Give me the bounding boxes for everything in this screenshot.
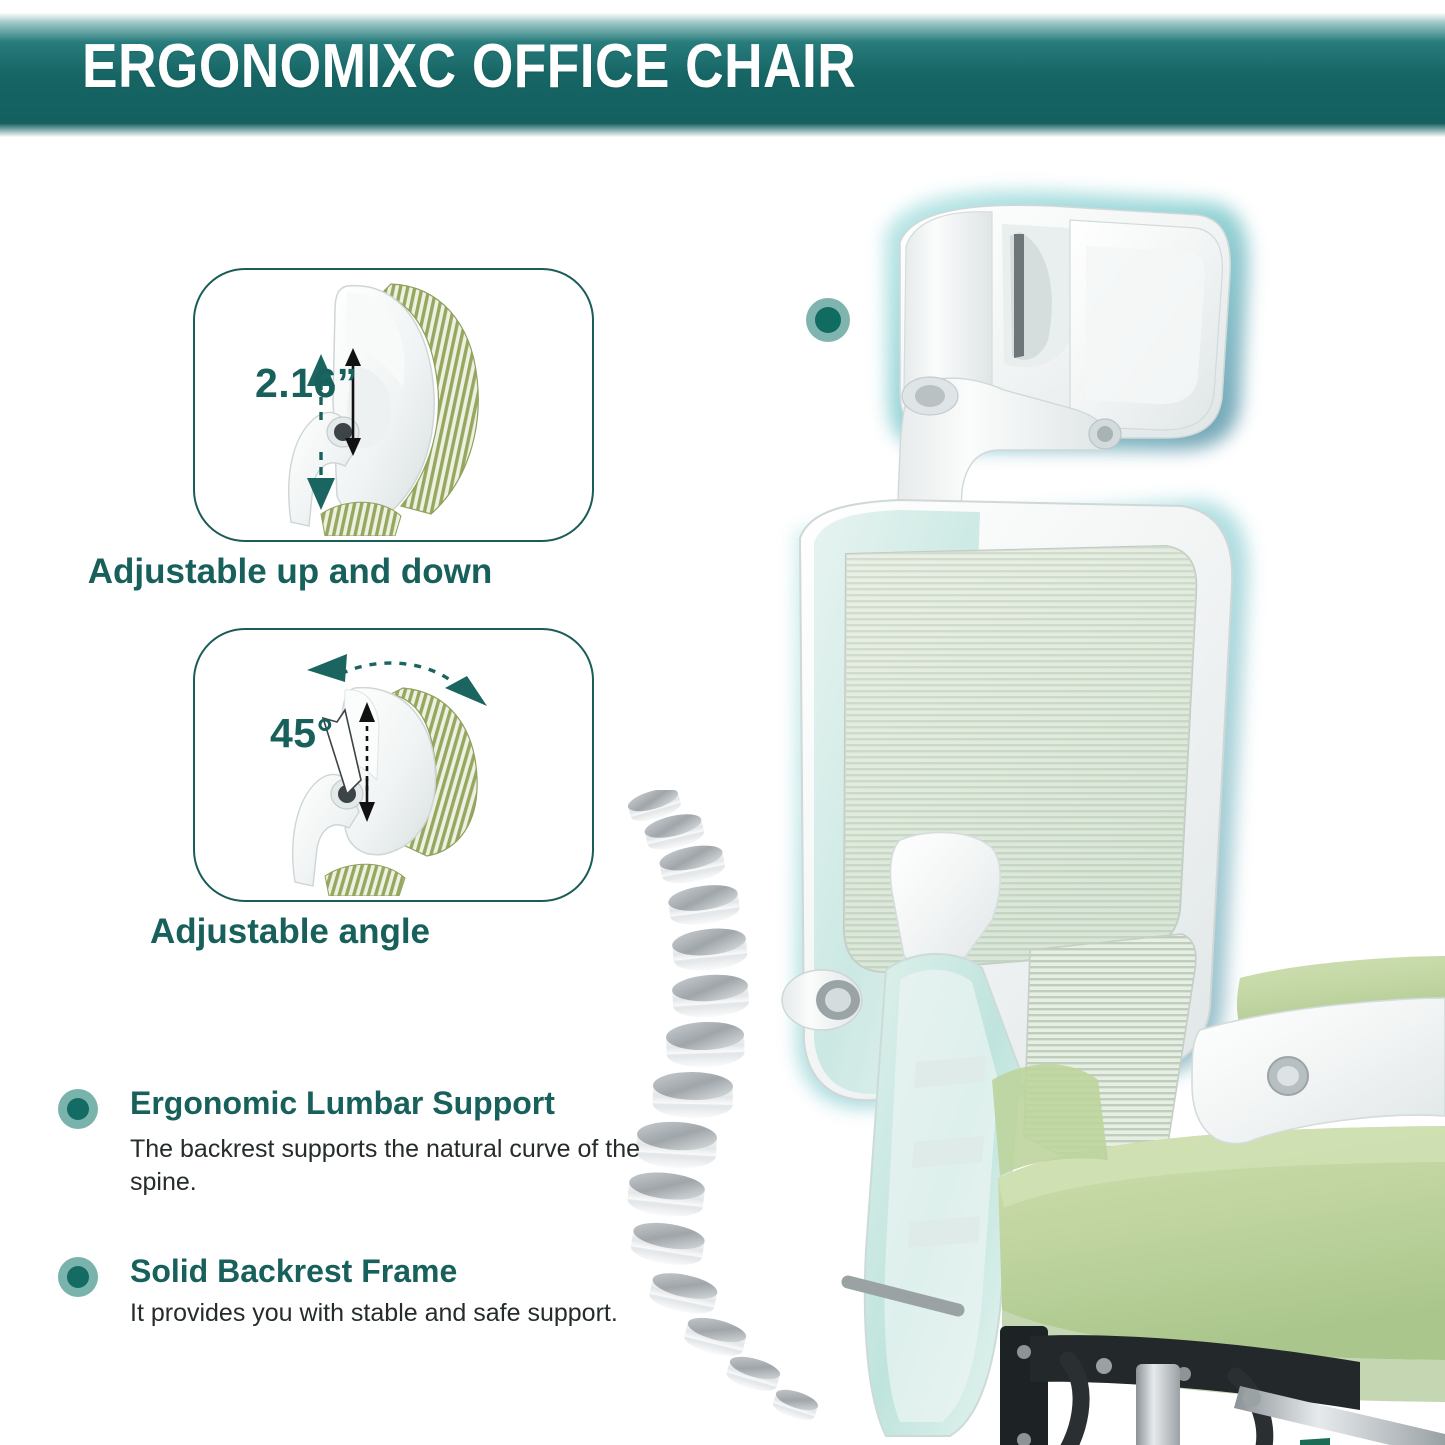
headrest-callout-dot-icon: [806, 298, 850, 342]
page-title: ERGONOMIXC OFFICE CHAIR: [82, 36, 856, 98]
bullet-title-lumbar-support: Ergonomic Lumbar Support: [130, 1085, 555, 1122]
spec-value-height: 2.16”: [255, 360, 358, 407]
bullet-body-backrest-frame: It provides you with stable and safe sup…: [130, 1297, 750, 1330]
headrest-angle-diagram: [195, 630, 588, 896]
infographic-page: ERGONOMIXC OFFICE CHAIR: [0, 0, 1445, 1445]
feature-caption-adjustable-height: Adjustable up and down: [0, 552, 600, 592]
bullet-title-backrest-frame: Solid Backrest Frame: [130, 1253, 457, 1290]
feature-caption-adjustable-angle: Adjustable angle: [0, 912, 600, 952]
armrest-right: [1192, 956, 1445, 1143]
bullet-dot-icon: [58, 1089, 98, 1129]
headrest-height-diagram: [195, 270, 588, 536]
feature-card-adjustable-angle: 45°: [193, 628, 594, 902]
bullet-dot-icon: [58, 1257, 98, 1297]
bullet-body-lumbar-support: The backrest supports the natural curve …: [130, 1133, 650, 1199]
spec-value-angle: 45°: [270, 710, 334, 757]
feature-card-adjustable-height: 2.16”: [193, 268, 594, 542]
